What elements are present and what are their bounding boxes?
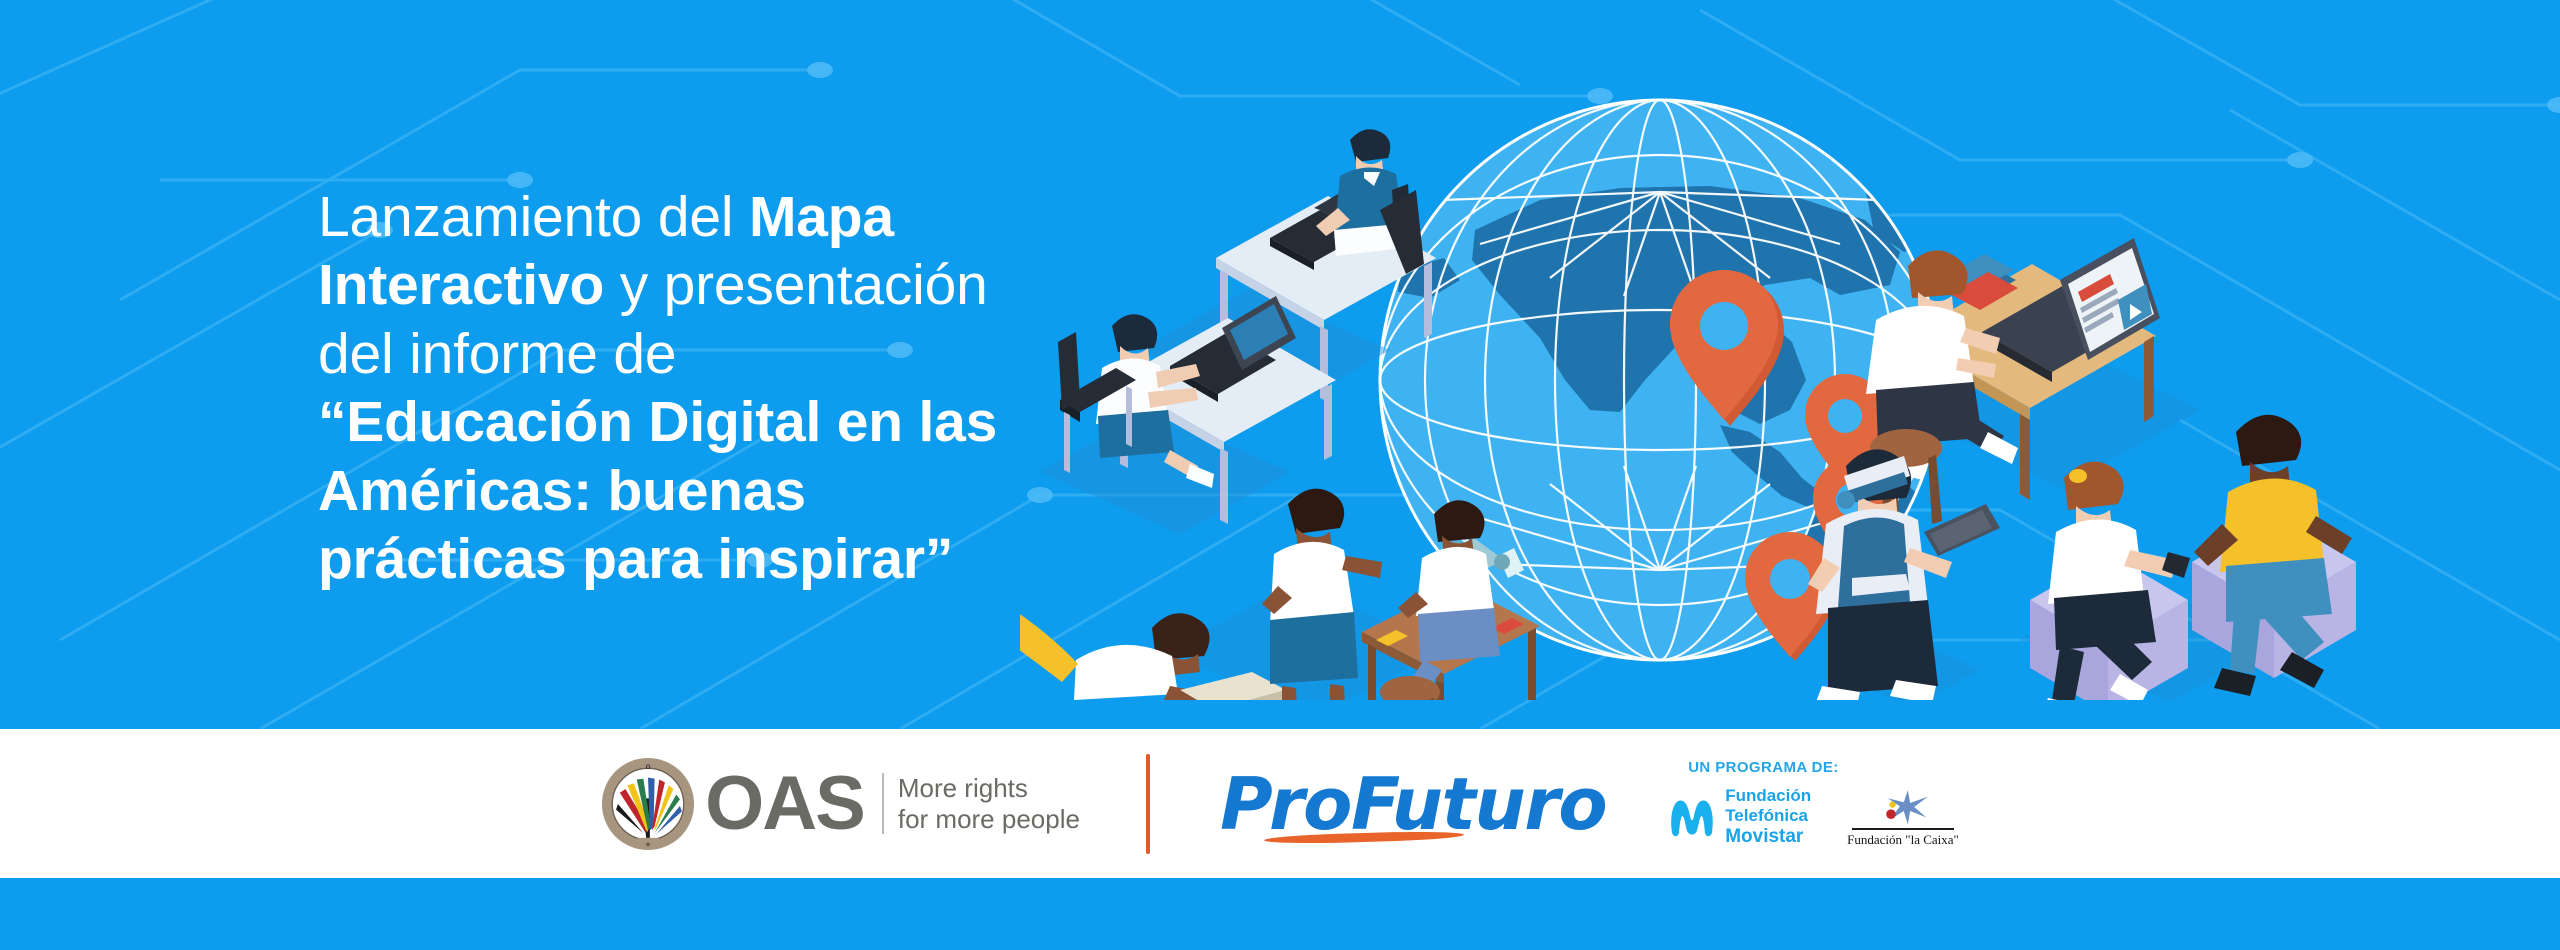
headline-line6: prácticas para inspirar”: [318, 525, 1038, 593]
telefonica-wordmark: Fundación Telefónica Movistar: [1725, 786, 1811, 847]
oas-seal-icon: O: [601, 757, 695, 851]
headline-line5: Américas: buenas: [318, 457, 1038, 525]
profuturo-logo[interactable]: ProFuturo: [1216, 768, 1610, 840]
headline-line2-a: Interactivo: [318, 253, 604, 317]
scene-students-desks: [1040, 129, 1436, 534]
headline-line3: del informe de: [318, 320, 1038, 388]
partners-kicker: UN PROGRAMA DE:: [1688, 759, 1838, 776]
oas-tagline: More rights for more people: [882, 773, 1080, 834]
partner-logo-row: Fundación Telefónica Movistar Fundación …: [1666, 786, 1959, 847]
svg-text:O: O: [646, 764, 651, 771]
logo-row: O OAS Mo: [0, 729, 2560, 878]
partners-block: UN PROGRAMA DE: Fundación Telefónica Mov…: [1666, 759, 1959, 847]
headline-line2-b: y presentación: [604, 253, 988, 317]
headline-line1-a: Lanzamiento del: [318, 185, 749, 249]
oas-logo[interactable]: O OAS Mo: [601, 757, 1080, 851]
logo-divider: [1146, 754, 1150, 854]
headline: Lanzamiento del Mapa Interactivo y prese…: [318, 183, 1038, 593]
la-caixa-star-icon: [1875, 787, 1931, 827]
la-caixa-rule: [1852, 828, 1954, 830]
la-caixa-wordmark: Fundación "la Caixa": [1847, 832, 1959, 848]
headline-line4: “Educación Digital en las: [318, 388, 1038, 456]
banner-bottom-bar: [0, 878, 2560, 950]
oas-wordmark: OAS: [705, 766, 864, 842]
telefonica-line1: Fundación: [1725, 786, 1811, 806]
fundacion-telefonica-movistar-logo[interactable]: Fundación Telefónica Movistar: [1666, 786, 1811, 847]
oas-tagline-line2: for more people: [898, 804, 1080, 835]
scene-floor-group: [1020, 489, 1540, 700]
banner-root: Lanzamiento del Mapa Interactivo y prese…: [0, 0, 2560, 950]
telefonica-line2: Telefónica: [1725, 806, 1811, 826]
illustration-scene: [1020, 80, 2440, 700]
fundacion-la-caixa-logo[interactable]: Fundación "la Caixa": [1847, 787, 1959, 848]
telefonica-line3: Movistar: [1725, 826, 1811, 848]
movistar-m-icon: [1666, 791, 1718, 843]
oas-tagline-line1: More rights: [898, 773, 1080, 804]
headline-line1-b: Mapa: [749, 185, 894, 249]
profuturo-wordmark: ProFuturo: [1220, 768, 1606, 840]
